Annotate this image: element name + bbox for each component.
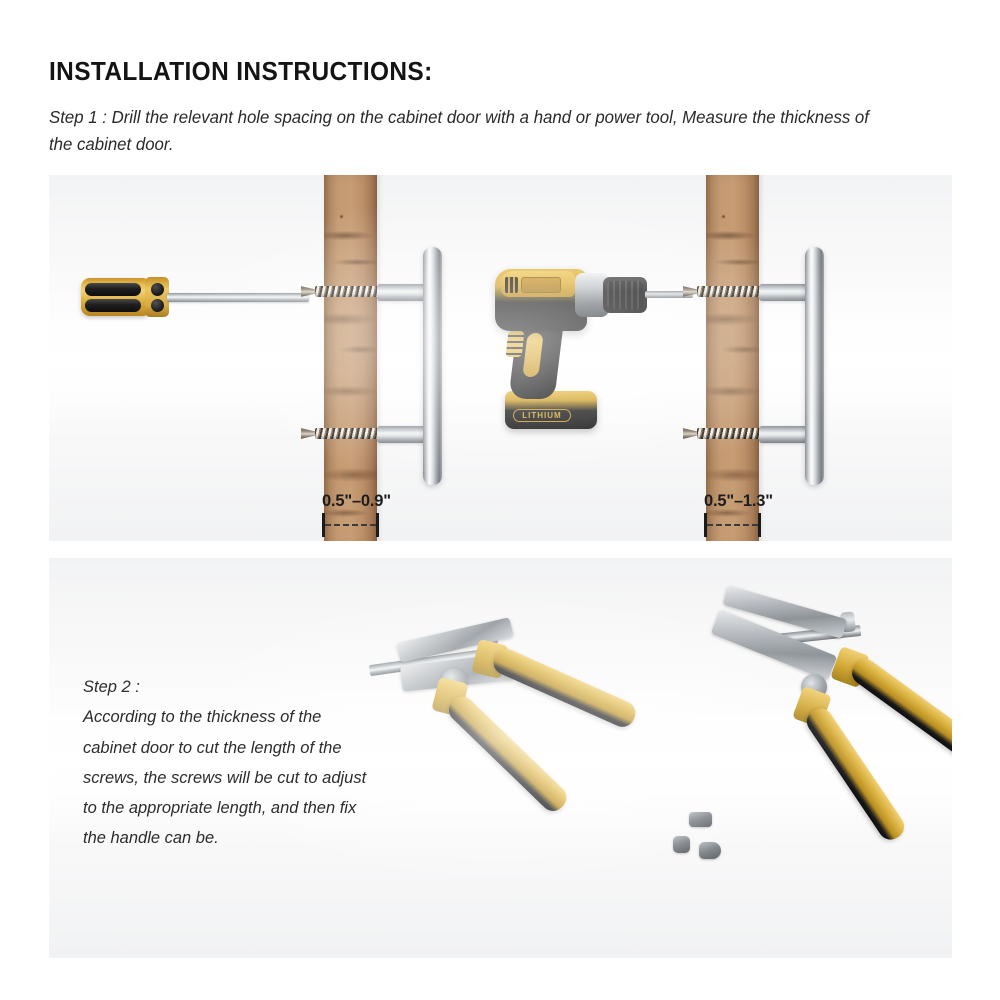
dimension-label-left: 0.5"–0.9"	[322, 492, 391, 511]
plier-handle-lower-right	[802, 704, 909, 845]
step1-scene: 0.5"–0.9" LITHIUM	[49, 175, 952, 541]
dimension-cap-end	[758, 513, 761, 537]
pliers-left	[379, 568, 649, 828]
dimension-right: 0.5"–1.3"	[704, 465, 762, 537]
dimension-bracket-left	[322, 513, 379, 537]
dimension-left: 0.5"–0.9"	[322, 465, 380, 537]
plier-handle-upper-left	[490, 645, 639, 731]
screwdriver-grip-lower	[85, 299, 141, 312]
screwdriver-tool	[81, 278, 311, 318]
cut-screw-piece-1	[689, 812, 712, 827]
dimension-bracket-right	[704, 513, 761, 537]
screwdriver-grip-upper	[85, 283, 141, 296]
screwdriver-shaft	[167, 293, 309, 302]
step2-description: According to the thickness of the cabine…	[83, 702, 374, 853]
plier-handle-lower-left	[444, 692, 571, 816]
screwdriver-endcap-upper	[151, 283, 164, 296]
handle-bar-right	[805, 247, 824, 485]
cut-screw-piece-3	[699, 842, 721, 859]
pliers-right	[689, 568, 952, 848]
step1-illustration-panel: 0.5"–0.9" LITHIUM	[49, 175, 952, 541]
drill-vents	[505, 277, 518, 293]
step2-text-block: Step 2 : According to the thickness of t…	[83, 672, 374, 854]
screwdriver-endcap-lower	[151, 299, 164, 312]
step1-description: Step 1 : Drill the relevant hole spacing…	[49, 104, 894, 157]
step2-label: Step 2 :	[83, 672, 374, 702]
installation-instructions-page: INSTALLATION INSTRUCTIONS: Step 1 : Dril…	[0, 0, 1000, 1000]
dimension-cap-end	[376, 513, 379, 537]
plier-handle-upper-right	[847, 654, 952, 763]
handle-bar-left	[423, 247, 442, 485]
drill-battery-label: LITHIUM	[513, 409, 571, 422]
cut-screw-piece-2	[673, 836, 690, 853]
page-title: INSTALLATION INSTRUCTIONS:	[49, 56, 433, 87]
drill-trigger	[506, 331, 525, 357]
dimension-line	[325, 524, 376, 526]
drill-brand-badge	[521, 277, 561, 293]
dimension-label-right: 0.5"–1.3"	[704, 492, 773, 511]
power-drill-tool: LITHIUM	[495, 263, 705, 443]
drill-chuck	[603, 277, 647, 313]
dimension-line	[707, 524, 758, 526]
